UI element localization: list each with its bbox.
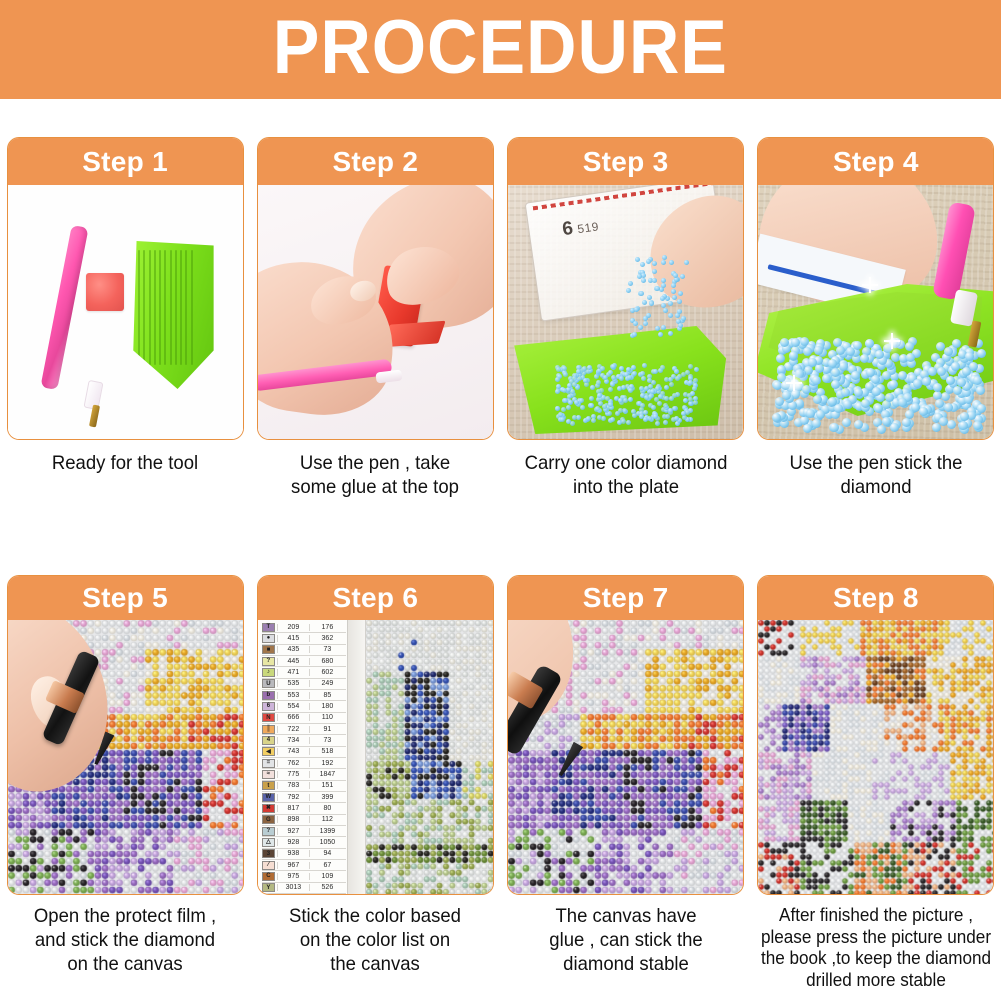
legend-row: ●415362: [262, 633, 346, 644]
procedure-infographic: PROCEDURE Step 1 R: [0, 0, 1001, 1001]
legend-color-code: 435: [277, 646, 309, 653]
legend-row: b55385: [262, 690, 346, 701]
step-card-3[interactable]: Step 3 6 519: [507, 137, 744, 440]
legend-symbol-swatch: =: [262, 759, 275, 768]
legend-color-code: 734: [277, 737, 309, 744]
legend-color-code: 762: [277, 760, 309, 767]
step-caption-1: Ready for the tool: [11, 452, 239, 476]
legend-color-code: 209: [277, 624, 309, 631]
legend-color-code: 975: [277, 873, 309, 880]
legend-count: 67: [309, 862, 345, 869]
legend-color-code: 927: [277, 828, 309, 835]
legend-color-code: 3013: [277, 884, 309, 891]
step-cell-3: Step 3 6 519 Ca: [501, 137, 751, 500]
legend-count: 151: [309, 782, 345, 789]
legend-symbol-swatch: △: [262, 838, 275, 847]
pick-diamond-photo: [758, 185, 993, 440]
legend-symbol-swatch: N: [262, 713, 275, 722]
legend-symbol-swatch: 4: [262, 736, 275, 745]
legend-color-code: 666: [277, 714, 309, 721]
legend-symbol-swatch: ♪: [262, 668, 275, 677]
step-image-3: 6 519: [508, 185, 743, 440]
legend-symbol-swatch: U: [262, 679, 275, 688]
legend-row: 6554180: [262, 701, 346, 712]
step-card-5[interactable]: Step 5: [7, 575, 244, 895]
legend-count: 518: [309, 748, 345, 755]
legend-row: ?9271399: [262, 826, 346, 837]
legend-color-code: 415: [277, 635, 309, 642]
step-badge-6: Step 6: [258, 576, 493, 620]
legend-color-code: 938: [277, 850, 309, 857]
step-caption-3: Carry one color diamondinto the plate: [512, 452, 740, 500]
legend-count: 94: [309, 850, 345, 857]
step-badge-1: Step 1: [8, 138, 243, 185]
legend-count: 399: [309, 794, 345, 801]
legend-row: ≈7751847: [262, 769, 346, 780]
legend-row: ?445680: [262, 656, 346, 667]
step-badge-8: Step 8: [758, 576, 993, 620]
step-card-2[interactable]: Step 2: [257, 137, 494, 440]
legend-color-code: 554: [277, 703, 309, 710]
legend-symbol-swatch: t: [262, 781, 275, 790]
step-caption-7: The canvas haveglue , can stick thediamo…: [512, 905, 740, 976]
legend-row: 473473: [262, 735, 346, 746]
step-image-7: [508, 620, 743, 895]
step-image-5: [8, 620, 243, 895]
step-caption-8: After finished the picture ,please press…: [757, 905, 995, 991]
legend-count: 1847: [309, 771, 345, 778]
legend-symbol-swatch: ●: [262, 634, 275, 643]
legend-symbol-swatch: W: [262, 793, 275, 802]
legend-row: T209176: [262, 622, 346, 633]
legend-and-canvas-photo: T209176●415362■43573?445680♪471602U53524…: [258, 620, 493, 895]
legend-row: ♪471602: [262, 667, 346, 678]
legend-row: △9281050: [262, 837, 346, 848]
legend-count: 362: [309, 635, 345, 642]
legend-color-code: 445: [277, 658, 309, 665]
legend-symbol-swatch: 3: [262, 849, 275, 858]
step-badge-2: Step 2: [258, 138, 493, 185]
tray-grooves: [132, 241, 214, 389]
legend-symbol-swatch: ⁄: [262, 861, 275, 870]
legend-row: 393894: [262, 849, 346, 860]
legend-count: 1399: [309, 828, 345, 835]
legend-row: ■43573: [262, 645, 346, 656]
legend-count: 80: [309, 805, 345, 812]
step-card-1[interactable]: Step 1: [7, 137, 244, 440]
tools-photo: [8, 185, 243, 440]
legend-symbol-swatch: ?: [262, 657, 275, 666]
legend-color-code: 743: [277, 748, 309, 755]
step-image-6: T209176●415362■43573?445680♪471602U53524…: [258, 620, 493, 895]
legend-count: 249: [309, 680, 345, 687]
legend-row: ⁄96767: [262, 860, 346, 871]
legend-symbol-swatch: b: [262, 691, 275, 700]
legend-row: U535249: [262, 679, 346, 690]
legend-color-code: 792: [277, 794, 309, 801]
legend-count: 192: [309, 760, 345, 767]
legend-color-code: 817: [277, 805, 309, 812]
finished-painting-photo: [758, 620, 993, 895]
step-caption-6: Stick the color basedon the color list o…: [261, 905, 489, 976]
legend-symbol-swatch: G: [262, 815, 275, 824]
legend-symbol-swatch: ║: [262, 725, 275, 734]
hands-glue-photo: [258, 185, 493, 440]
legend-symbol-swatch: ◀: [262, 747, 275, 756]
legend-count: 73: [309, 737, 345, 744]
pink-pen-icon: [40, 225, 88, 390]
step-card-8[interactable]: Step 8: [757, 575, 994, 895]
legend-color-code: 471: [277, 669, 309, 676]
legend-color-code: 553: [277, 692, 309, 699]
legend-color-code: 928: [277, 839, 309, 846]
step-cell-4: Step 4: [751, 137, 1001, 500]
step-cell-2: Step 2 Use the pen , takesome: [250, 137, 500, 500]
color-legend-table: T209176●415362■43573?445680♪471602U53524…: [258, 620, 348, 895]
step-badge-5: Step 5: [8, 576, 243, 620]
legend-count: 602: [309, 669, 345, 676]
legend-row: t783151: [262, 781, 346, 792]
legend-row: Y3013526: [262, 883, 346, 894]
step-caption-2: Use the pen , takesome glue at the top: [261, 452, 489, 500]
legend-count: 176: [309, 624, 345, 631]
page-header-banner: PROCEDURE: [0, 0, 1001, 99]
legend-count: 1050: [309, 839, 345, 846]
legend-count: 73: [309, 646, 345, 653]
step-cell-7: Step 7 The canvas haveglue , can stick t…: [501, 575, 751, 991]
step-image-1: [8, 185, 243, 440]
blue-diamonds: [508, 185, 743, 440]
legend-row: =762192: [262, 758, 346, 769]
legend-row: W792399: [262, 792, 346, 803]
step-image-2: [258, 185, 493, 440]
step-card-6[interactable]: Step 6 T209176●415362■43573?445680♪47160…: [257, 575, 494, 895]
legend-symbol-swatch: ■: [262, 645, 275, 654]
step-caption-4: Use the pen stick thediamond: [762, 452, 990, 500]
step-cell-1: Step 1 Ready for the tool: [0, 137, 250, 500]
pour-diamonds-photo: 6 519: [508, 185, 743, 440]
legend-symbol-swatch: Y: [262, 883, 275, 892]
legend-color-code: 535: [277, 680, 309, 687]
legend-count: 91: [309, 726, 345, 733]
mosaic-area: [366, 620, 493, 895]
step-card-4[interactable]: Step 4: [757, 137, 994, 440]
legend-count: 85: [309, 692, 345, 699]
legend-symbol-swatch: T: [262, 623, 275, 632]
green-tray-icon: [132, 241, 214, 389]
legend-row: ║72291: [262, 724, 346, 735]
legend-symbol-swatch: 6: [262, 702, 275, 711]
step-card-7[interactable]: Step 7: [507, 575, 744, 895]
step-cell-5: Step 5 Open the protect film ,and stick …: [0, 575, 250, 991]
legend-row: C975109: [262, 871, 346, 882]
glue-square-icon: [86, 273, 124, 311]
legend-count: 109: [309, 873, 345, 880]
step-badge-3: Step 3: [508, 138, 743, 185]
pen-tip-icon: [375, 369, 402, 383]
legend-symbol-swatch: ✖: [262, 804, 275, 813]
legend-symbol-swatch: ?: [262, 827, 275, 836]
legend-count: 526: [309, 884, 345, 891]
legend-row: N666110: [262, 713, 346, 724]
legend-row: G898112: [262, 815, 346, 826]
legend-color-code: 722: [277, 726, 309, 733]
diamond-mosaic: [758, 620, 993, 895]
legend-count: 180: [309, 703, 345, 710]
step-cell-6: Step 6 T209176●415362■43573?445680♪47160…: [250, 575, 500, 991]
legend-row: ✖81780: [262, 803, 346, 814]
legend-color-code: 783: [277, 782, 309, 789]
legend-color-code: 775: [277, 771, 309, 778]
step-badge-4: Step 4: [758, 138, 993, 185]
step-badge-7: Step 7: [508, 576, 743, 620]
steps-row-bottom: Step 5 Open the protect film ,and stick …: [0, 575, 1001, 991]
page-title: PROCEDURE: [273, 10, 728, 90]
legend-count: 110: [309, 714, 345, 721]
legend-symbol-swatch: ≈: [262, 770, 275, 779]
canvas-margin: [348, 620, 366, 895]
step-caption-5: Open the protect film ,and stick the dia…: [11, 905, 239, 976]
legend-symbol-swatch: C: [262, 872, 275, 881]
legend-color-code: 967: [277, 862, 309, 869]
legend-count: 680: [309, 658, 345, 665]
legend-color-code: 898: [277, 816, 309, 823]
diamond-mosaic: [366, 620, 493, 895]
steps-row-top: Step 1 Ready for the tool: [0, 137, 1001, 500]
legend-count: 112: [309, 816, 345, 823]
step-cell-8: Step 8 After finished the picture ,pleas…: [751, 575, 1001, 991]
legend-row: ◀743518: [262, 747, 346, 758]
step-image-8: [758, 620, 993, 895]
step-image-4: [758, 185, 993, 440]
